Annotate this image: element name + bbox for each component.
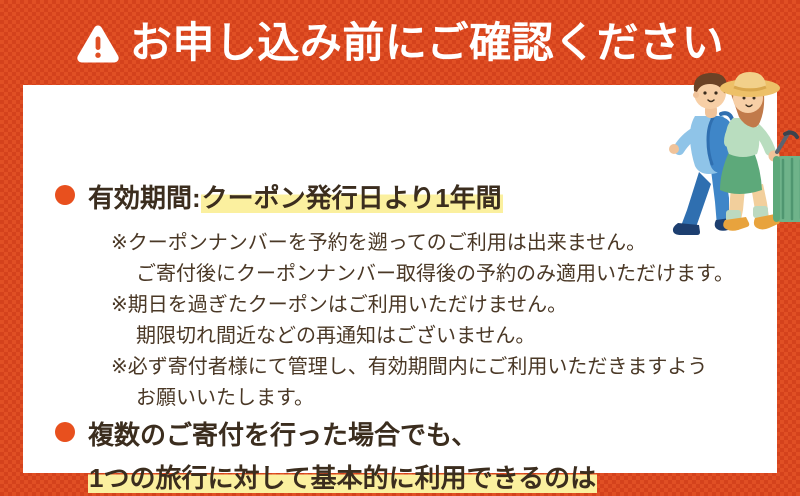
bullet-item-multiple-donations-text: 複数のご寄付を行った場合でも、	[88, 422, 477, 448]
bullet-item-validity-period: 有効期間:クーポン発行日より1年間	[55, 185, 503, 211]
note-line: 期限切れ間近などの再通知はございません。	[136, 326, 535, 346]
note-line: ※必ず寄付者様にて管理し、有効期間内にご利用いただきますよう	[111, 357, 707, 377]
bullet-dot-icon	[55, 185, 75, 205]
bullet-item-validity-period-text: 有効期間:クーポン発行日より1年間	[88, 185, 503, 211]
banner-header: お申し込み前にご確認ください	[0, 0, 800, 85]
note-line: ご寄付後にクーポンナンバー取得後の予約のみ適用いただけます。	[136, 264, 734, 284]
bullet-item-multiple-donations: 複数のご寄付を行った場合でも、	[55, 422, 477, 448]
notice-banner: お申し込み前にご確認ください 有効期間:クーポン発行日より1年間 ※クーポンナン…	[0, 0, 800, 496]
notice-content: 有効期間:クーポン発行日より1年間 ※クーポンナンバーを予約を遡ってのご利用は出…	[23, 85, 777, 473]
validity-value-highlighted: クーポン発行日より1年間	[201, 183, 503, 213]
multiple-donations-line-2-highlighted: 1つの旅行に対して基本的に利用できるのは	[88, 463, 597, 493]
notice-card: 有効期間:クーポン発行日より1年間 ※クーポンナンバーを予約を遡ってのご利用は出…	[23, 85, 777, 473]
multiple-donations-line-2: 1つの旅行に対して基本的に利用できるのは	[88, 465, 597, 491]
note-line: ※期日を過ぎたクーポンはご利用いただけません。	[111, 295, 567, 315]
page-title: お申し込み前にご確認ください	[130, 22, 724, 64]
note-line: お願いいたします。	[136, 388, 314, 408]
note-line: ※クーポンナンバーを予約を遡ってのご利用は出来ません。	[111, 233, 646, 253]
bullet-dot-icon	[55, 422, 75, 442]
validity-label: 有効期間:	[88, 183, 201, 213]
warning-triangle-icon	[76, 23, 120, 63]
